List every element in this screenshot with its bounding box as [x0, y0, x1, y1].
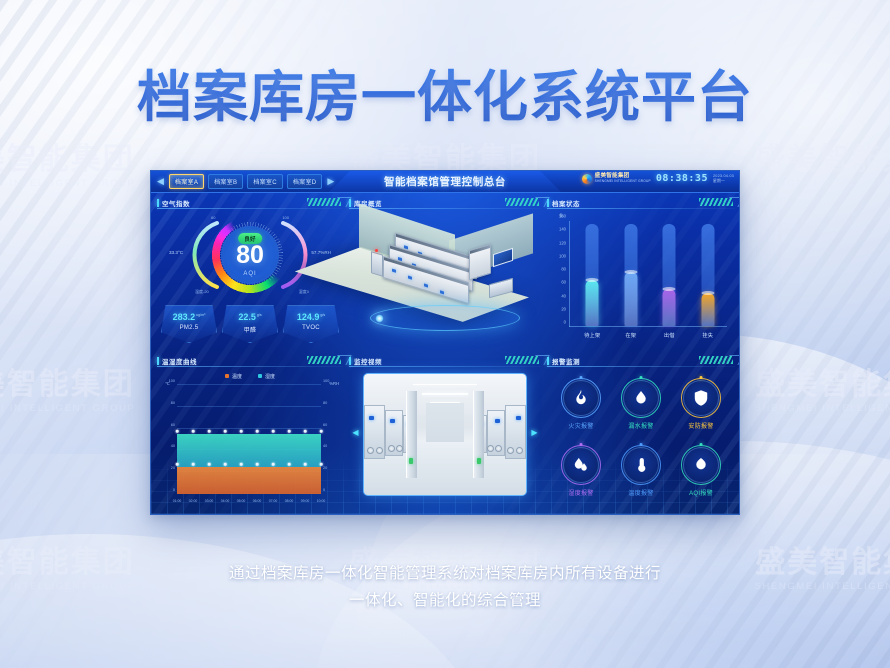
panel-header-video: 监控视频 — [349, 355, 541, 367]
panel-title-temp-humidity: 温湿度曲线 — [162, 356, 197, 366]
aqi-value: 80 — [236, 243, 264, 268]
panel-underline — [547, 366, 735, 367]
metric-value-pm25: 283.2 — [173, 312, 196, 322]
alarm-ring — [563, 380, 599, 416]
legend-item-humidity[interactable]: 湿度 — [258, 373, 275, 380]
tab-room-b[interactable]: 档案室B — [208, 174, 243, 189]
bar-cap — [701, 291, 714, 295]
temp-humidity-legend: 温度 湿度 — [157, 371, 343, 381]
metric-value-formaldehyde: 22.5 — [238, 312, 256, 322]
temp-x-tick: 06:00 — [253, 499, 262, 503]
bar-y-tick: 80 — [561, 267, 566, 272]
temp-y-tick-left: 60 — [171, 423, 175, 427]
panel-underline — [157, 366, 343, 367]
temp-x-tick: 01:00 — [173, 499, 182, 503]
metric-value-tvoc: 124.9 — [297, 312, 320, 322]
data-point-humidity — [240, 430, 243, 433]
temp-x-tick: 07:00 — [269, 499, 278, 503]
file-status-bar-chart: 条 020406080100120140160 待上架在架出借挂失 — [547, 211, 735, 345]
alarm-item-shield[interactable]: 安防报警 — [671, 380, 731, 430]
metric-label-pm25: PM2.5 — [162, 325, 216, 331]
alarm-label: AQI报警 — [671, 488, 731, 497]
aqi-unit-label: AQI — [243, 271, 256, 277]
panel-underline — [349, 366, 541, 367]
data-point-temperature — [320, 463, 323, 466]
shield-icon — [692, 389, 710, 407]
video-next-arrow-icon[interactable]: ▶ — [530, 427, 539, 439]
metric-card-tvoc: 124.9g/s TVOC — [283, 305, 339, 343]
temp-x-tick: 09:00 — [301, 499, 310, 503]
grid-line — [177, 406, 321, 407]
bar-x-label: 出借 — [656, 332, 682, 339]
bar-x-label: 待上架 — [579, 332, 605, 339]
page-caption: 通过档案库房一体化智能管理系统对档案库房内所有设备进行 一体化、智能化的综合管理 — [0, 560, 890, 614]
panel-title-alarm: 报警监测 — [552, 356, 580, 366]
warehouse-3d-model[interactable] — [349, 211, 541, 345]
temp-x-tick: 03:00 — [205, 499, 214, 503]
temp-y-tick-right: 0 — [323, 488, 325, 492]
temp-humidity-area-chart: 00202040406060808010010001:0002:0003:000… — [177, 385, 321, 494]
temp-y-tick-left: 20 — [171, 466, 175, 470]
bar-value — [586, 280, 599, 326]
aqi-gauge-area: 60 33.3°C 温度-20 100 57.7%RH 湿度0 — [157, 209, 343, 297]
temp-y-tick-left: 40 — [171, 444, 175, 448]
archive-cabinet — [385, 410, 403, 456]
tab-room-a[interactable]: 档案室A — [169, 174, 204, 189]
structural-pillar — [406, 391, 417, 478]
panel-header-alarm: 报警监测 — [547, 355, 735, 367]
data-point-temperature — [224, 463, 227, 466]
data-point-humidity — [272, 430, 275, 433]
leaf-icon — [692, 456, 710, 474]
video-feed[interactable] — [363, 373, 527, 496]
humidity-icon — [572, 456, 590, 474]
caption-line-1: 通过档案库房一体化智能管理系统对档案库房内所有设备进行 — [0, 560, 890, 587]
bar-y-tick: 140 — [559, 227, 566, 232]
dashboard-title: 智能档案馆管理控制总台 — [384, 174, 506, 189]
shelf-side — [469, 244, 491, 281]
panel-title-video: 监控视频 — [354, 356, 382, 366]
humidity-area — [177, 434, 321, 467]
panel-accent-bar — [349, 357, 351, 365]
hum-arc-min: 湿度0 — [299, 289, 309, 295]
bar-chart-plot: 020406080100120140160 — [569, 221, 727, 327]
watermark-en: SHENGMEI INTELLIGENT GROUP — [0, 179, 135, 189]
panel-file-status: 档案状态 条 020406080100120140160 待上架在架出借挂失 — [547, 197, 735, 349]
archive-cabinet — [364, 405, 385, 458]
bar-value — [701, 293, 714, 326]
data-point-humidity — [224, 430, 227, 433]
data-point-temperature — [288, 463, 291, 466]
data-point-humidity — [176, 430, 179, 433]
temp-x-tick: 04:00 — [221, 499, 230, 503]
archive-cabinet — [487, 410, 505, 456]
data-point-temperature — [304, 463, 307, 466]
panel-header-file-status: 档案状态 — [547, 197, 735, 209]
bar-value — [663, 289, 676, 326]
data-point-humidity — [192, 430, 195, 433]
data-point-temperature — [256, 463, 259, 466]
temp-x-tick: 02:00 — [189, 499, 198, 503]
bar-y-tick: 20 — [561, 306, 566, 311]
alarm-label: 湿度报警 — [551, 488, 611, 497]
panel-underline — [547, 208, 735, 209]
panel-header-air-quality: 空气指数 — [157, 197, 343, 209]
archive-cabinet — [505, 405, 526, 458]
legend-item-temperature[interactable]: 温度 — [225, 373, 242, 380]
company-logo: 盛美智能集团 SHENGMEI INTELLIGENT GROUP — [582, 174, 651, 184]
panel-header-warehouse: 库房概览 — [349, 197, 541, 209]
bar-value — [624, 272, 637, 326]
warehouse-base-ring — [370, 305, 520, 331]
watermark-en: SHENGMEI INTELLIGENT GROUP — [0, 404, 135, 414]
panel-title-air-quality: 空气指数 — [162, 198, 190, 208]
caption-line-2: 一体化、智能化的综合管理 — [0, 587, 890, 614]
data-point-temperature — [176, 463, 179, 466]
alarm-label: 温度报警 — [611, 488, 671, 497]
panel-title-file-status: 档案状态 — [552, 198, 580, 208]
water-drop-icon — [632, 389, 650, 407]
header-date-stamp: 2023.04.03 星期一 — [713, 174, 734, 183]
data-point-temperature — [272, 463, 275, 466]
temp-axis-unit-right: %RH — [329, 381, 339, 386]
alarm-item-leaf[interactable]: AQI报警 — [671, 447, 731, 497]
data-point-humidity — [208, 430, 211, 433]
panel-temp-humidity: 温湿度曲线 温度 湿度 ℃ %RH 0020204040606080801001… — [157, 355, 343, 510]
header-clock: 08:38:35 — [656, 173, 708, 184]
bar-x-label: 在架 — [618, 332, 644, 339]
metric-label-formaldehyde: 甲醛 — [223, 325, 277, 334]
alarm-item-humidity[interactable]: 湿度报警 — [551, 447, 611, 497]
alarm-item-water-drop[interactable]: 漏水报警 — [611, 380, 671, 430]
temp-y-tick-right: 80 — [323, 401, 327, 405]
thermometer-icon — [632, 456, 650, 474]
panel-accent-bar — [157, 199, 159, 207]
aqi-gauge: 良好 80 AQI — [208, 213, 292, 297]
bar-cap — [624, 270, 637, 274]
metric-unit-pm25: ug/m³ — [196, 313, 205, 317]
tab-room-c[interactable]: 档案室C — [247, 174, 283, 189]
temp-x-tick: 10:00 — [317, 499, 326, 503]
temp-x-tick: 08:00 — [285, 499, 294, 503]
panel-video-surveillance: 监控视频 ◀ ▶ — [349, 355, 541, 510]
bar-chart-y-axis — [569, 221, 570, 327]
grid-line — [177, 428, 321, 429]
panel-accent-bar — [547, 357, 549, 365]
alarm-icon-grid: 火灾报警漏水报警安防报警湿度报警温度报警AQI报警 — [551, 371, 731, 506]
panel-accent-bar — [349, 199, 351, 207]
legend-label-temperature: 温度 — [232, 373, 242, 380]
warehouse-highlight-dot — [375, 314, 384, 323]
logo-text-en: SHENGMEI INTELLIGENT GROUP — [595, 180, 651, 183]
panel-accent-bar — [157, 357, 159, 365]
legend-label-humidity: 湿度 — [265, 373, 275, 380]
watermark-cn: 盛美智能集团 — [755, 370, 890, 400]
bar-group[interactable] — [701, 221, 714, 326]
bar-x-label: 挂失 — [695, 332, 721, 339]
panel-alarm-monitoring: 报警监测 火灾报警漏水报警安防报警湿度报警温度报警AQI报警 — [547, 355, 735, 510]
panel-warehouse-overview: 库房概览 — [349, 197, 541, 349]
ceiling-light — [422, 393, 467, 395]
temp-y-tick-right: 20 — [323, 466, 327, 470]
exit-sign-icon — [409, 458, 413, 464]
dashboard-title-plate: 智能档案馆管理控制总台 — [329, 171, 561, 192]
temp-x-tick: 05:00 — [237, 499, 246, 503]
watermark-en: SHENGMEI INTELLIGENT GROUP — [755, 404, 890, 414]
control-cabinet — [371, 251, 383, 277]
temp-y-tick-left: 80 — [171, 401, 175, 405]
bar-y-tick: 160 — [559, 214, 566, 219]
bar-group[interactable] — [586, 221, 599, 326]
exit-sign-icon — [477, 458, 481, 464]
tab-room-d[interactable]: 档案室D — [287, 174, 323, 189]
humidity-value: 57.7%RH — [311, 250, 331, 255]
air-metric-cards: 283.2ug/m³ PM2.5 22.5g/s 甲醛 124.9g/s TVO… — [161, 305, 339, 345]
alarm-ring — [623, 380, 659, 416]
room-tab-bar: ◀ 档案室A 档案室B 档案室C 档案室D ▶ — [156, 174, 335, 189]
bar-y-tick: 0 — [564, 320, 566, 325]
watermark-en: SHENGMEI INTELLIGENT GROUP — [755, 179, 890, 189]
alarm-ring — [563, 447, 599, 483]
watermark-cn: 盛美智能集团 — [755, 145, 890, 175]
panel-header-temp-humidity: 温湿度曲线 — [157, 355, 343, 367]
watermark-cn: 盛美智能集团 — [0, 145, 135, 175]
data-point-humidity — [304, 430, 307, 433]
tabs-next-arrow-icon[interactable]: ▶ — [326, 177, 335, 186]
legend-swatch-temperature — [225, 374, 229, 378]
structural-pillar — [473, 391, 484, 478]
data-point-humidity — [288, 430, 291, 433]
alarm-label: 漏水报警 — [611, 421, 671, 430]
alarm-item-fire[interactable]: 火灾报警 — [551, 380, 611, 430]
grid-line — [177, 384, 321, 385]
data-point-humidity — [320, 430, 323, 433]
metric-unit-formaldehyde: g/s — [257, 313, 262, 317]
data-point-humidity — [256, 430, 259, 433]
bar-cap — [586, 278, 599, 282]
metric-unit-tvoc: g/s — [320, 313, 325, 317]
tabs-prev-arrow-icon[interactable]: ◀ — [156, 177, 165, 186]
metric-card-pm25: 283.2ug/m³ PM2.5 — [161, 305, 217, 343]
alarm-ring — [683, 447, 719, 483]
temp-y-tick-left: 100 — [169, 379, 175, 383]
data-point-temperature — [208, 463, 211, 466]
legend-swatch-humidity — [258, 374, 262, 378]
temp-y-tick-left: 0 — [173, 488, 175, 492]
bar-y-tick: 40 — [561, 293, 566, 298]
bar-group[interactable] — [624, 221, 637, 326]
header-weekday: 星期一 — [713, 179, 734, 183]
ceiling-light — [413, 384, 478, 386]
panel-accent-bar — [547, 199, 549, 207]
watermark-cn: 盛美智能集团 — [0, 370, 135, 400]
header-right-cluster: 盛美智能集团 SHENGMEI INTELLIGENT GROUP 08:38:… — [582, 173, 734, 184]
alarm-item-thermometer[interactable]: 温度报警 — [611, 447, 671, 497]
alarm-label: 火灾报警 — [551, 421, 611, 430]
data-point-temperature — [192, 463, 195, 466]
temp-y-tick-right: 100 — [323, 379, 329, 383]
dashboard-header: ◀ 档案室A 档案室B 档案室C 档案室D ▶ 智能档案馆管理控制总台 盛美智能… — [151, 171, 739, 193]
alarm-ring — [623, 447, 659, 483]
bar-y-tick: 120 — [559, 240, 566, 245]
bar-chart-bars — [573, 221, 727, 326]
bar-group[interactable] — [663, 221, 676, 326]
alarm-label: 安防报警 — [671, 421, 731, 430]
metric-card-formaldehyde: 22.5g/s 甲醛 — [222, 305, 278, 343]
temperature-value: 33.3°C — [169, 250, 183, 255]
bar-chart-x-labels: 待上架在架出借挂失 — [573, 332, 727, 339]
metric-label-tvoc: TVOC — [284, 325, 338, 331]
bar-y-tick: 60 — [561, 280, 566, 285]
bar-chart-x-axis — [569, 326, 727, 327]
data-point-temperature — [240, 463, 243, 466]
temp-y-tick-right: 60 — [323, 423, 327, 427]
status-indicator-light — [375, 249, 378, 252]
bar-y-tick: 100 — [559, 253, 566, 258]
fire-icon — [572, 389, 590, 407]
alarm-ring — [683, 380, 719, 416]
temp-arc-min: 温度-20 — [195, 289, 209, 295]
video-scene — [364, 374, 526, 495]
dashboard-screenshot: ◀ 档案室A 档案室B 档案室C 档案室D ▶ 智能档案馆管理控制总台 盛美智能… — [150, 170, 740, 515]
bar-cap — [663, 287, 676, 291]
video-prev-arrow-icon[interactable]: ◀ — [351, 427, 360, 439]
logo-mark-icon — [582, 174, 592, 184]
page-title: 档案库房一体化系统平台 — [0, 52, 890, 132]
temperature-area — [177, 467, 321, 494]
temp-y-tick-right: 40 — [323, 444, 327, 448]
